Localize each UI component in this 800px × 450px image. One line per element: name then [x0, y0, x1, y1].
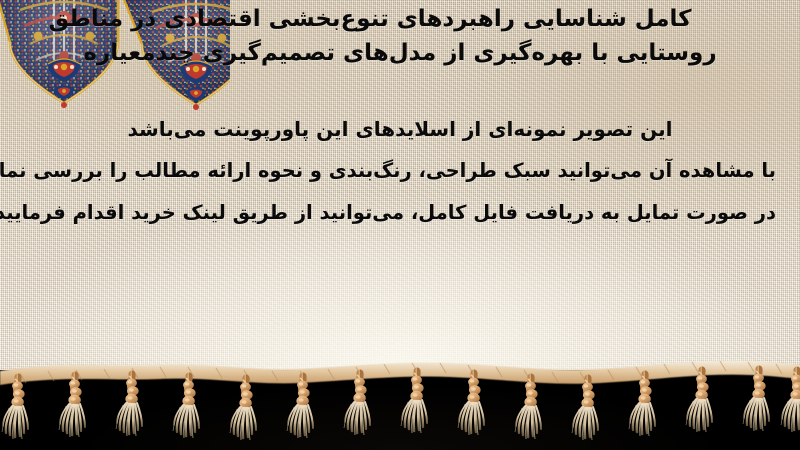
title-line-2: روستایی با بهره‌گیری از مدل‌های تصمیم‌گی… — [20, 36, 780, 70]
body-line-1: این تصویر نمونه‌ای از اسلایدهای این پاور… — [24, 108, 776, 150]
fringe-selvage-rope — [0, 361, 800, 385]
slide-title: کامل شناسایی راهبردهای تنوع‌بخشی اقتصادی… — [0, 2, 800, 70]
slide-canvas: کامل شناسایی راهبردهای تنوع‌بخشی اقتصادی… — [0, 0, 800, 450]
body-line-2: با مشاهده آن می‌توانید سبک طراحی، رنگ‌بن… — [24, 150, 776, 192]
carpet-fringe-icon — [0, 345, 800, 450]
slide-text-layer: کامل شناسایی راهبردهای تنوع‌بخشی اقتصادی… — [0, 0, 800, 380]
title-line-1: کامل شناسایی راهبردهای تنوع‌بخشی اقتصادی… — [20, 2, 780, 36]
carpet-fringe-zone — [0, 345, 800, 450]
body-line-3: در صورت تمایل به دریافت فایل کامل، می‌تو… — [24, 192, 776, 234]
slide-body: این تصویر نمونه‌ای از اسلایدهای این پاور… — [0, 108, 800, 234]
